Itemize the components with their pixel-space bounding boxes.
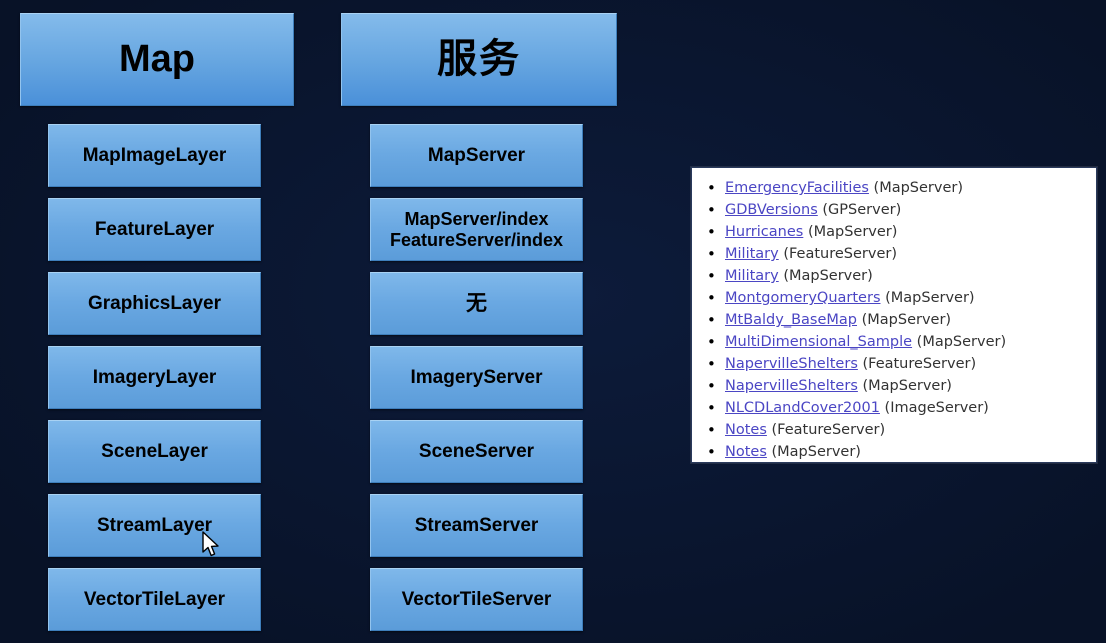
column-header-service: 服务: [341, 13, 617, 106]
service-link[interactable]: Military: [725, 268, 779, 284]
service-list-item: •MultiDimensional_Sample (MapServer): [692, 331, 1096, 353]
bullet-icon: •: [707, 375, 716, 397]
service-list-item: •Military (MapServer): [692, 265, 1096, 287]
service-box-sceneserver-label: SceneServer: [371, 441, 582, 462]
service-type: (MapServer): [917, 334, 1006, 350]
service-link[interactable]: NLCDLandCover2001: [725, 400, 880, 416]
service-link[interactable]: GDBVersions: [725, 202, 818, 218]
service-box-none-label: 无: [371, 292, 582, 316]
service-link[interactable]: Notes: [725, 444, 767, 460]
service-box-streamserver-label: StreamServer: [371, 515, 582, 536]
map-box-imagerylayer[interactable]: ImageryLayer: [48, 346, 261, 409]
service-box-imageryserver[interactable]: ImageryServer: [370, 346, 583, 409]
service-box-imageryserver-label: ImageryServer: [371, 367, 582, 388]
service-list-item: •Notes (MapServer): [692, 441, 1096, 463]
service-box-mapserver[interactable]: MapServer: [370, 124, 583, 187]
map-box-featurelayer[interactable]: FeatureLayer: [48, 198, 261, 261]
service-type: (FeatureServer): [772, 422, 886, 438]
service-list-item: •MtBaldy_BaseMap (MapServer): [692, 309, 1096, 331]
map-box-graphicslayer-label: GraphicsLayer: [49, 293, 260, 314]
column-header-service-label: 服务: [342, 37, 616, 82]
service-link[interactable]: MultiDimensional_Sample: [725, 334, 912, 350]
map-box-mapimagelayer[interactable]: MapImageLayer: [48, 124, 261, 187]
bullet-icon: •: [707, 221, 716, 243]
service-type: (MapServer): [874, 180, 963, 196]
service-link[interactable]: NapervilleShelters: [725, 356, 858, 372]
bullet-icon: •: [707, 397, 716, 419]
bullet-icon: •: [707, 287, 716, 309]
bullet-icon: •: [707, 243, 716, 265]
service-type: (MapServer): [808, 224, 897, 240]
service-type: (MapServer): [885, 290, 974, 306]
bullet-icon: •: [707, 199, 716, 221]
bullet-icon: •: [707, 441, 716, 463]
service-link[interactable]: MontgomeryQuarters: [725, 290, 881, 306]
service-box-mapserver-index-line2: FeatureServer/index: [371, 230, 582, 250]
bullet-icon: •: [707, 177, 716, 199]
service-list-item: •MontgomeryQuarters (MapServer): [692, 287, 1096, 309]
service-link[interactable]: MtBaldy_BaseMap: [725, 312, 857, 328]
service-list-item: •NLCDLandCover2001 (ImageServer): [692, 397, 1096, 419]
service-box-streamserver[interactable]: StreamServer: [370, 494, 583, 557]
service-list-item: •GDBVersions (GPServer): [692, 199, 1096, 221]
services-list: •EmergencyFacilities (MapServer)•GDBVers…: [692, 168, 1096, 463]
service-type: (ImageServer): [885, 400, 989, 416]
service-box-vectortileserver[interactable]: VectorTileServer: [370, 568, 583, 631]
map-box-imagerylayer-label: ImageryLayer: [49, 367, 260, 388]
bullet-icon: •: [707, 309, 716, 331]
bullet-icon: •: [707, 419, 716, 441]
service-list-item: •Notes (FeatureServer): [692, 419, 1096, 441]
service-type: (MapServer): [772, 444, 861, 460]
map-box-vectortilelayer[interactable]: VectorTileLayer: [48, 568, 261, 631]
service-box-none[interactable]: 无: [370, 272, 583, 335]
map-box-featurelayer-label: FeatureLayer: [49, 219, 260, 240]
service-box-mapserver-label: MapServer: [371, 145, 582, 166]
map-box-scenelayer-label: SceneLayer: [49, 441, 260, 462]
slide-canvas: Map MapImageLayer FeatureLayer GraphicsL…: [0, 0, 1106, 643]
map-box-mapimagelayer-label: MapImageLayer: [49, 145, 260, 166]
service-box-vectortileserver-label: VectorTileServer: [371, 589, 582, 610]
service-type: (FeatureServer): [862, 356, 976, 372]
column-header-map-label: Map: [21, 38, 293, 81]
service-link[interactable]: EmergencyFacilities: [725, 180, 869, 196]
service-type: (GPServer): [822, 202, 901, 218]
service-box-sceneserver[interactable]: SceneServer: [370, 420, 583, 483]
service-link[interactable]: Hurricanes: [725, 224, 803, 240]
service-type: (FeatureServer): [783, 246, 897, 262]
service-list-item: •Military (FeatureServer): [692, 243, 1096, 265]
bullet-icon: •: [707, 353, 716, 375]
service-link[interactable]: Military: [725, 246, 779, 262]
map-box-streamlayer[interactable]: StreamLayer: [48, 494, 261, 557]
map-box-scenelayer[interactable]: SceneLayer: [48, 420, 261, 483]
service-type: (MapServer): [862, 378, 951, 394]
service-box-mapserver-index-line1: MapServer/index: [371, 209, 582, 229]
services-directory-panel: •EmergencyFacilities (MapServer)•GDBVers…: [691, 167, 1097, 463]
column-header-map: Map: [20, 13, 294, 106]
service-list-item: •NapervilleShelters (MapServer): [692, 375, 1096, 397]
service-type: (MapServer): [862, 312, 951, 328]
map-box-vectortilelayer-label: VectorTileLayer: [49, 589, 260, 610]
service-list-item: •NapervilleShelters (FeatureServer): [692, 353, 1096, 375]
bullet-icon: •: [707, 331, 716, 353]
service-link[interactable]: NapervilleShelters: [725, 378, 858, 394]
service-box-mapserver-index[interactable]: MapServer/index FeatureServer/index: [370, 198, 583, 261]
service-list-item: •Hurricanes (MapServer): [692, 221, 1096, 243]
service-list-item: •EmergencyFacilities (MapServer): [692, 177, 1096, 199]
service-link[interactable]: Notes: [725, 422, 767, 438]
bullet-icon: •: [707, 265, 716, 287]
map-box-graphicslayer[interactable]: GraphicsLayer: [48, 272, 261, 335]
service-type: (MapServer): [783, 268, 872, 284]
map-box-streamlayer-label: StreamLayer: [49, 515, 260, 536]
